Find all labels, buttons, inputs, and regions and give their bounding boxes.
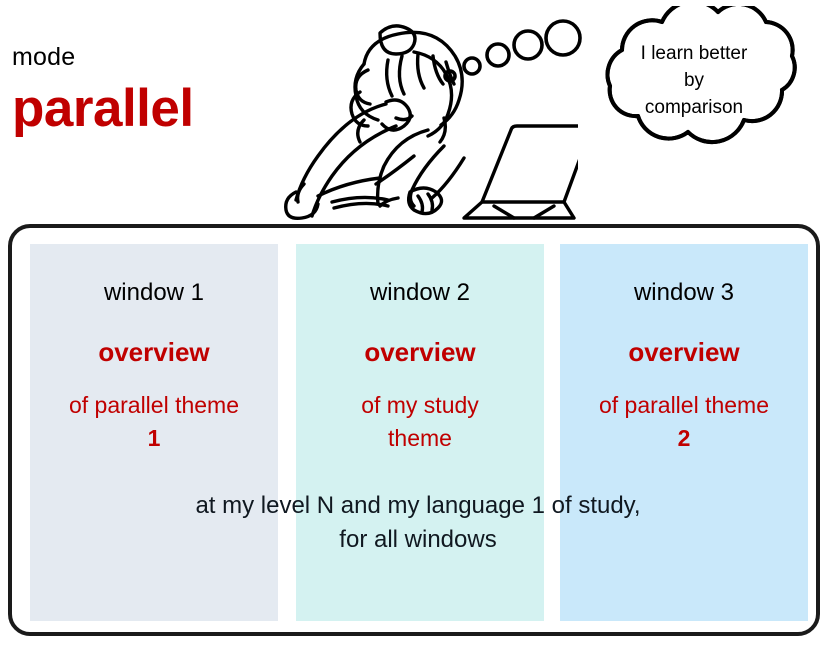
window-2-subtitle-number: theme [290, 422, 550, 455]
windows-frame: window 1 overview of parallel theme 1 wi… [8, 224, 820, 636]
thought-bubble-line-1: I learn better [604, 40, 784, 67]
window-panel-2[interactable]: window 2 overview of my study theme [296, 244, 544, 621]
window-2-title: window 2 [296, 281, 544, 305]
window-3-title: window 3 [560, 281, 808, 305]
window-2-subtitle-text: of my study [290, 389, 550, 422]
window-1-title: window 1 [30, 281, 278, 305]
window-3-subtitle: of parallel theme 2 [554, 389, 814, 455]
thought-bubble-text: I learn better by comparison [604, 40, 784, 121]
window-3-subtitle-number: 2 [554, 422, 814, 455]
window-panel-1[interactable]: window 1 overview of parallel theme 1 [30, 244, 278, 621]
window-1-subtitle-number: 1 [24, 422, 284, 455]
thought-bubble-line-2: by [604, 67, 784, 94]
window-1-subtitle: of parallel theme 1 [24, 389, 284, 455]
thought-bubble-line-3: comparison [604, 94, 784, 121]
window-1-subtitle-text: of parallel theme [24, 389, 284, 422]
window-1-overview: overview [30, 339, 278, 365]
window-3-subtitle-text: of parallel theme [554, 389, 814, 422]
header-area: mode parallel [0, 0, 828, 224]
mode-label: mode [12, 45, 75, 70]
window-2-overview: overview [296, 339, 544, 365]
window-3-overview: overview [560, 339, 808, 365]
window-panel-3[interactable]: window 3 overview of parallel theme 2 [560, 244, 808, 621]
window-2-subtitle: of my study theme [290, 389, 550, 455]
mode-value: parallel [12, 82, 194, 135]
